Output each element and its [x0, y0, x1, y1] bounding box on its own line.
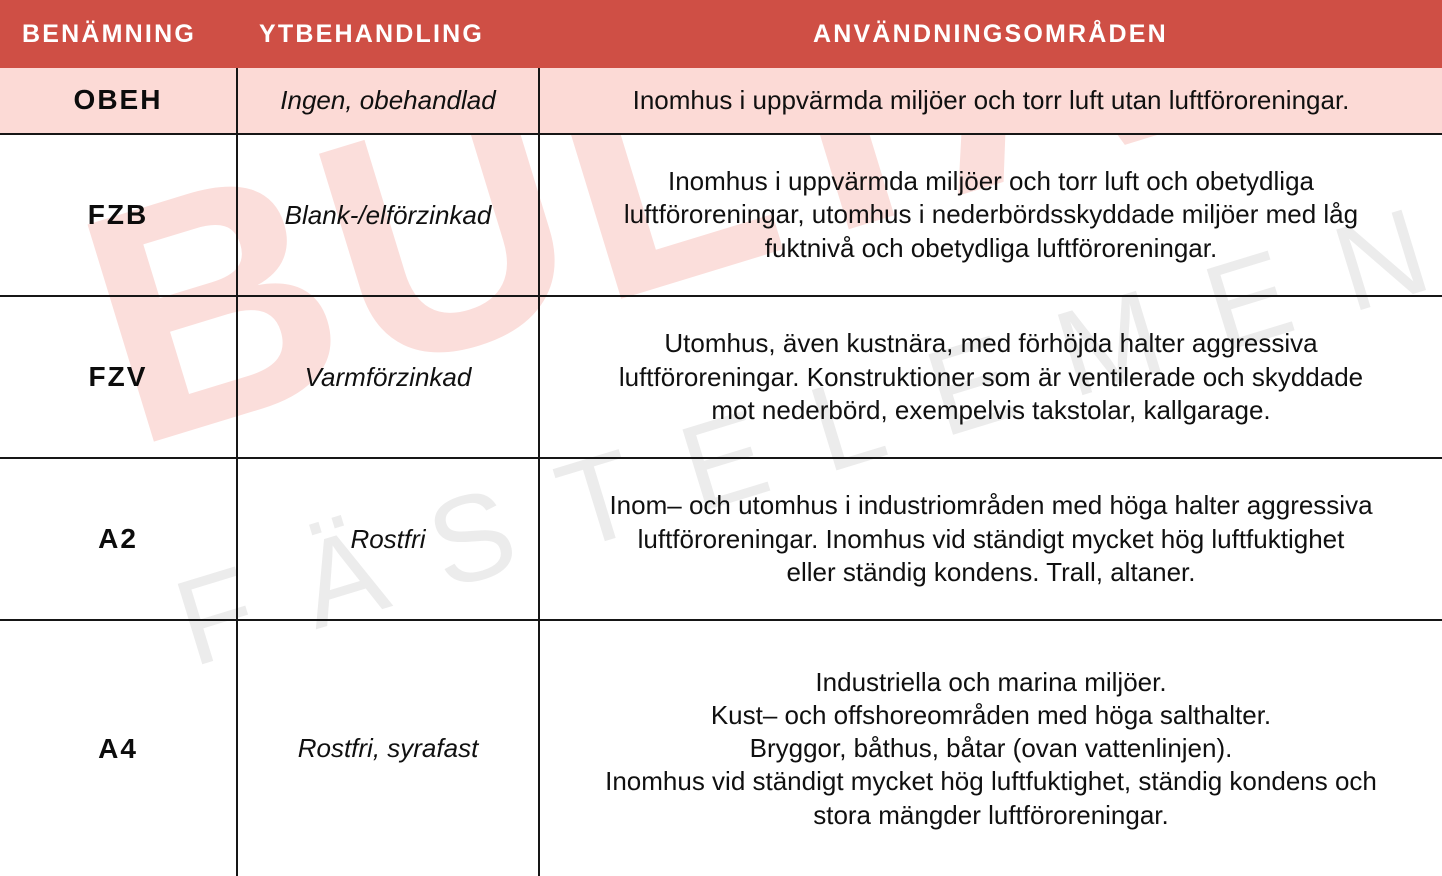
cell-anvandningsomraden: Inom– och utomhus i industriområden med … [539, 458, 1442, 620]
usage-line: mot nederbörd, exempelvis takstolar, kal… [566, 394, 1416, 427]
column-header-benamning: BENÄMNING [0, 0, 237, 68]
cell-benamning: FZB [0, 134, 237, 296]
usage-line: luftföroreningar. Inomhus vid ständigt m… [566, 523, 1416, 556]
surface-treatment-table: BENÄMNING YTBEHANDLING ANVÄNDNINGSOMRÅDE… [0, 0, 1442, 876]
cell-ytbehandling: Rostfri, syrafast [237, 620, 539, 876]
usage-line: luftföroreningar, utomhus i nederbördssk… [566, 198, 1416, 231]
cell-anvandningsomraden: Industriella och marina miljöer.Kust– oc… [539, 620, 1442, 876]
cell-benamning: A4 [0, 620, 237, 876]
table-row: A4Rostfri, syrafastIndustriella och mari… [0, 620, 1442, 876]
usage-line: Utomhus, även kustnära, med förhöjda hal… [566, 327, 1416, 360]
cell-anvandningsomraden: Utomhus, även kustnära, med förhöjda hal… [539, 296, 1442, 458]
table-header: BENÄMNING YTBEHANDLING ANVÄNDNINGSOMRÅDE… [0, 0, 1442, 68]
cell-ytbehandling: Blank-/elförzinkad [237, 134, 539, 296]
table-row: A2RostfriInom– och utomhus i industriomr… [0, 458, 1442, 620]
page-root: BULTAB FÄSTELEMENT BENÄMNING YTBEHANDLIN… [0, 0, 1442, 876]
cell-benamning: FZV [0, 296, 237, 458]
usage-line: Inomhus i uppvärmda miljöer och torr luf… [566, 165, 1416, 198]
usage-line: Inom– och utomhus i industriområden med … [566, 489, 1416, 522]
surface-treatment-table-container: BENÄMNING YTBEHANDLING ANVÄNDNINGSOMRÅDE… [0, 0, 1442, 876]
table-header-row: BENÄMNING YTBEHANDLING ANVÄNDNINGSOMRÅDE… [0, 0, 1442, 68]
cell-ytbehandling: Rostfri [237, 458, 539, 620]
usage-line: Kust– och offshoreområden med höga salth… [566, 699, 1416, 732]
cell-benamning: A2 [0, 458, 237, 620]
usage-line: Industriella och marina miljöer. [566, 666, 1416, 699]
table-row: OBEHIngen, obehandladInomhus i uppvärmda… [0, 68, 1442, 134]
usage-line: stora mängder luftföroreningar. [566, 799, 1416, 832]
table-row: FZVVarmförzinkadUtomhus, även kustnära, … [0, 296, 1442, 458]
usage-line: Inomhus vid ständigt mycket hög luftfukt… [566, 765, 1416, 798]
usage-line: Inomhus i uppvärmda miljöer och torr luf… [566, 84, 1416, 117]
column-header-anvandningsomraden: ANVÄNDNINGSOMRÅDEN [539, 0, 1442, 68]
usage-line: eller ständig kondens. Trall, altaner. [566, 556, 1416, 589]
table-row: FZBBlank-/elförzinkadInomhus i uppvärmda… [0, 134, 1442, 296]
cell-anvandningsomraden: Inomhus i uppvärmda miljöer och torr luf… [539, 68, 1442, 134]
column-header-ytbehandling: YTBEHANDLING [237, 0, 539, 68]
usage-line: Bryggor, båthus, båtar (ovan vattenlinje… [566, 732, 1416, 765]
cell-benamning: OBEH [0, 68, 237, 134]
cell-ytbehandling: Varmförzinkad [237, 296, 539, 458]
table-body: OBEHIngen, obehandladInomhus i uppvärmda… [0, 68, 1442, 876]
usage-line: fuktnivå och obetydliga luftföroreningar… [566, 232, 1416, 265]
cell-anvandningsomraden: Inomhus i uppvärmda miljöer och torr luf… [539, 134, 1442, 296]
cell-ytbehandling: Ingen, obehandlad [237, 68, 539, 134]
usage-line: luftföroreningar. Konstruktioner som är … [566, 361, 1416, 394]
